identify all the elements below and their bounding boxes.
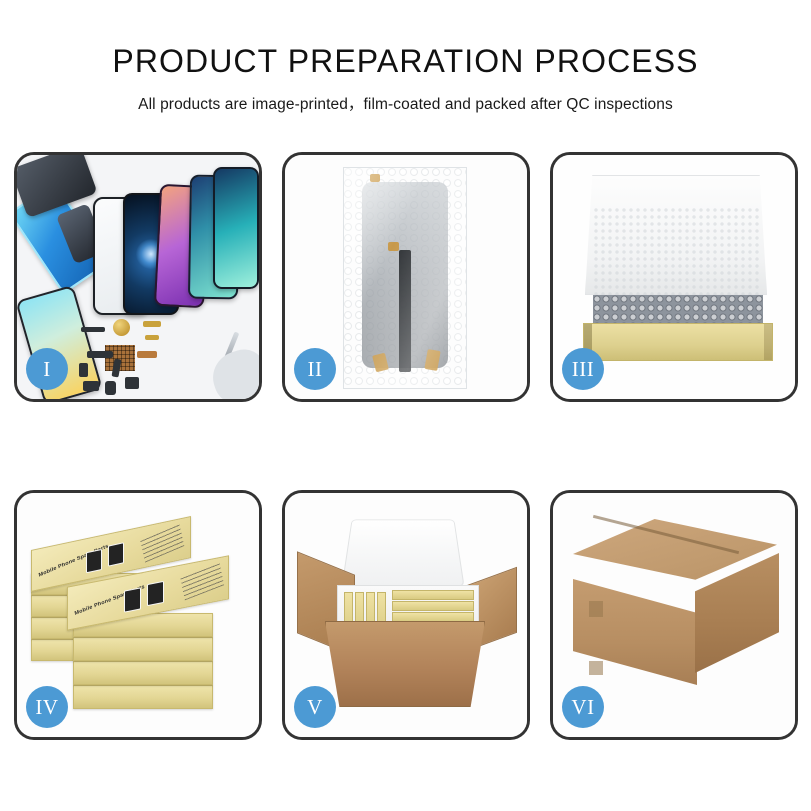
gold-box-base: [583, 323, 773, 361]
step-panel-3: III: [550, 152, 798, 402]
product-preparation-infographic: PRODUCT PREPARATION PROCESS All products…: [0, 0, 811, 811]
carton-tape-lower: [589, 661, 603, 675]
antenna-component: [137, 351, 157, 358]
box-stack: Mobile Phone Spare Parts Mobile Phone Sp…: [27, 515, 255, 720]
step-badge-3: III: [562, 348, 604, 390]
connector-component-2: [79, 363, 88, 377]
camera-module-component: [83, 381, 99, 391]
step-badge-6: VI: [562, 686, 604, 728]
page-title: PRODUCT PREPARATION PROCESS: [0, 44, 811, 79]
flex-cable-component-1: [143, 321, 161, 327]
flex-cable-component-2: [145, 335, 159, 340]
foam-lid-open: [341, 519, 464, 586]
inner-gold-box-6: [392, 601, 474, 611]
box-screen-thumb-rear-1: [86, 549, 102, 573]
speaker-component-icon: [113, 319, 130, 336]
process-steps-grid: I II: [14, 152, 797, 740]
inner-gold-box-5: [392, 590, 474, 600]
box-screen-thumb-rear-2: [108, 542, 124, 566]
box-screen-thumb-front-2: [147, 581, 164, 606]
carton-tape-upper: [589, 601, 603, 617]
connector-component-1: [87, 351, 113, 358]
plastic-sheen-overlay: [344, 168, 466, 388]
ribbon-cable-component: [111, 359, 121, 378]
page-subtitle: All products are image-printed，film-coat…: [0, 92, 811, 114]
step-panel-1: I: [14, 152, 262, 402]
stacked-box-front-5: [73, 685, 213, 709]
box-spec-text-front: [180, 561, 224, 601]
technician-hand-image: [206, 344, 259, 399]
inner-gold-box-7: [392, 612, 474, 622]
step-badge-5: V: [294, 686, 336, 728]
step-panel-4: Mobile Phone Spare Parts Mobile Phone Sp…: [14, 490, 262, 740]
vibrator-component: [125, 377, 139, 389]
step-panel-6: VI: [550, 490, 798, 740]
header: PRODUCT PREPARATION PROCESS All products…: [0, 0, 811, 114]
earpiece-component: [81, 327, 105, 332]
battery-component: [105, 381, 116, 395]
teal-phone-secondary-image: [213, 167, 259, 289]
bubble-wrap-package: [343, 167, 467, 389]
bubble-wrap-layer: [593, 295, 763, 325]
box-screen-thumb-front-1: [124, 587, 141, 612]
step-panel-2: II: [282, 152, 530, 402]
stacked-box-front-3: [73, 637, 213, 661]
step-badge-1: I: [26, 348, 68, 390]
step-badge-2: II: [294, 348, 336, 390]
step-badge-4: IV: [26, 686, 68, 728]
stacked-box-front-4: [73, 661, 213, 685]
carton-body: [325, 621, 485, 707]
box-spec-text-rear: [140, 522, 185, 563]
step-panel-5: V: [282, 490, 530, 740]
foam-sheet: [593, 207, 759, 299]
